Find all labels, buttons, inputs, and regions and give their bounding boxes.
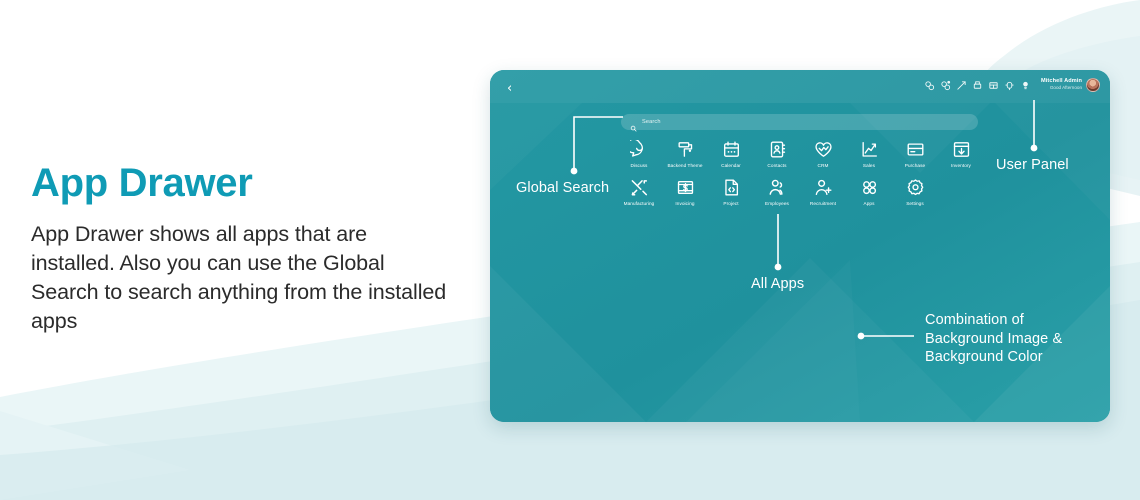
apps-icon — [860, 178, 879, 197]
app-label: Backend Theme — [667, 163, 702, 168]
user-panel[interactable]: Mitchell Admin Good Afternoon — [924, 78, 1100, 92]
invoicing-icon — [676, 178, 695, 197]
calendar-icon — [722, 140, 741, 159]
app-tile-sales[interactable]: Sales — [846, 140, 892, 168]
manufacturing-icon — [630, 178, 649, 197]
app-label: Inventory — [951, 163, 971, 168]
app-tile-purchase[interactable]: Purchase — [892, 140, 938, 168]
app-label: CRM — [818, 163, 829, 168]
app-label: Discuss — [631, 163, 648, 168]
user-identity: Mitchell Admin Good Afternoon — [1041, 79, 1082, 91]
avatar[interactable] — [1086, 78, 1100, 92]
app-label: Settings — [906, 201, 924, 206]
app-label: Purchase — [905, 163, 925, 168]
user-greeting: Good Afternoon — [1041, 86, 1082, 91]
app-grid: Discuss Backend Theme — [616, 140, 984, 206]
sales-icon — [860, 140, 879, 159]
recruitment-icon — [814, 178, 833, 197]
copy-block: App Drawer App Drawer shows all apps tha… — [31, 160, 451, 336]
app-tile-contacts[interactable]: Contacts — [754, 140, 800, 168]
app-label: Calendar — [721, 163, 741, 168]
wave-bottom-wedge — [0, 411, 190, 500]
debug-icon[interactable] — [1004, 80, 1015, 91]
app-tile-employees[interactable]: Employees — [754, 178, 800, 206]
app-label: Project — [723, 201, 738, 206]
app-tile-discuss[interactable]: Discuss — [616, 140, 662, 168]
user-name: Mitchell Admin — [1041, 79, 1082, 85]
app-tile-settings[interactable]: Settings — [892, 178, 938, 206]
page-description: App Drawer shows all apps that are insta… — [31, 220, 451, 336]
annotation-background-combination: Combination of Background Image & Backgr… — [925, 311, 1062, 367]
activity-bell-icon[interactable] — [940, 80, 951, 91]
crm-icon — [814, 140, 833, 159]
app-label: Sales — [863, 163, 875, 168]
app-label: Contacts — [767, 163, 786, 168]
search-icon — [630, 119, 637, 126]
annotation-user-panel: User Panel — [996, 156, 1069, 174]
user-menu[interactable]: Mitchell Admin Good Afternoon — [1041, 78, 1100, 92]
app-drawer-panel: ‹ — [490, 70, 1110, 422]
screenshot-root: App Drawer App Drawer shows all apps tha… — [0, 0, 1140, 500]
app-tile-apps[interactable]: Apps — [846, 178, 892, 206]
app-label: Employees — [765, 201, 789, 206]
backend-theme-icon — [676, 140, 695, 159]
app-tile-manufacturing[interactable]: Manufacturing — [616, 178, 662, 206]
app-tile-invoicing[interactable]: Invoicing — [662, 178, 708, 206]
app-label: Invoicing — [675, 201, 694, 206]
app-tile-backend-theme[interactable]: Backend Theme — [662, 140, 708, 168]
settings-icon — [906, 178, 925, 197]
annotation-global-search: Global Search — [516, 179, 609, 197]
app-label: Manufacturing — [624, 201, 655, 206]
search-input[interactable]: Search — [621, 114, 978, 130]
help-icon[interactable] — [1020, 80, 1031, 91]
contacts-icon — [768, 140, 787, 159]
page-title: App Drawer — [31, 160, 451, 206]
inventory-icon — [952, 140, 971, 159]
messages-icon[interactable] — [956, 80, 967, 91]
app-tile-project[interactable]: Project — [708, 178, 754, 206]
app-tile-crm[interactable]: CRM — [800, 140, 846, 168]
purchase-icon — [906, 140, 925, 159]
employees-icon — [768, 178, 787, 197]
search-placeholder-text: Search — [642, 119, 661, 125]
discuss-icon — [630, 140, 649, 159]
annotation-all-apps: All Apps — [751, 275, 804, 293]
app-tile-inventory[interactable]: Inventory — [938, 140, 984, 168]
bug-icon[interactable] — [924, 80, 935, 91]
project-icon — [722, 178, 741, 197]
print-icon[interactable] — [972, 80, 983, 91]
app-label: Apps — [863, 201, 874, 206]
app-tile-recruitment[interactable]: Recruitment — [800, 178, 846, 206]
app-label: Recruitment — [810, 201, 836, 206]
app-tile-calendar[interactable]: Calendar — [708, 140, 754, 168]
back-button[interactable]: ‹ — [507, 82, 512, 95]
grid-icon[interactable] — [988, 80, 999, 91]
